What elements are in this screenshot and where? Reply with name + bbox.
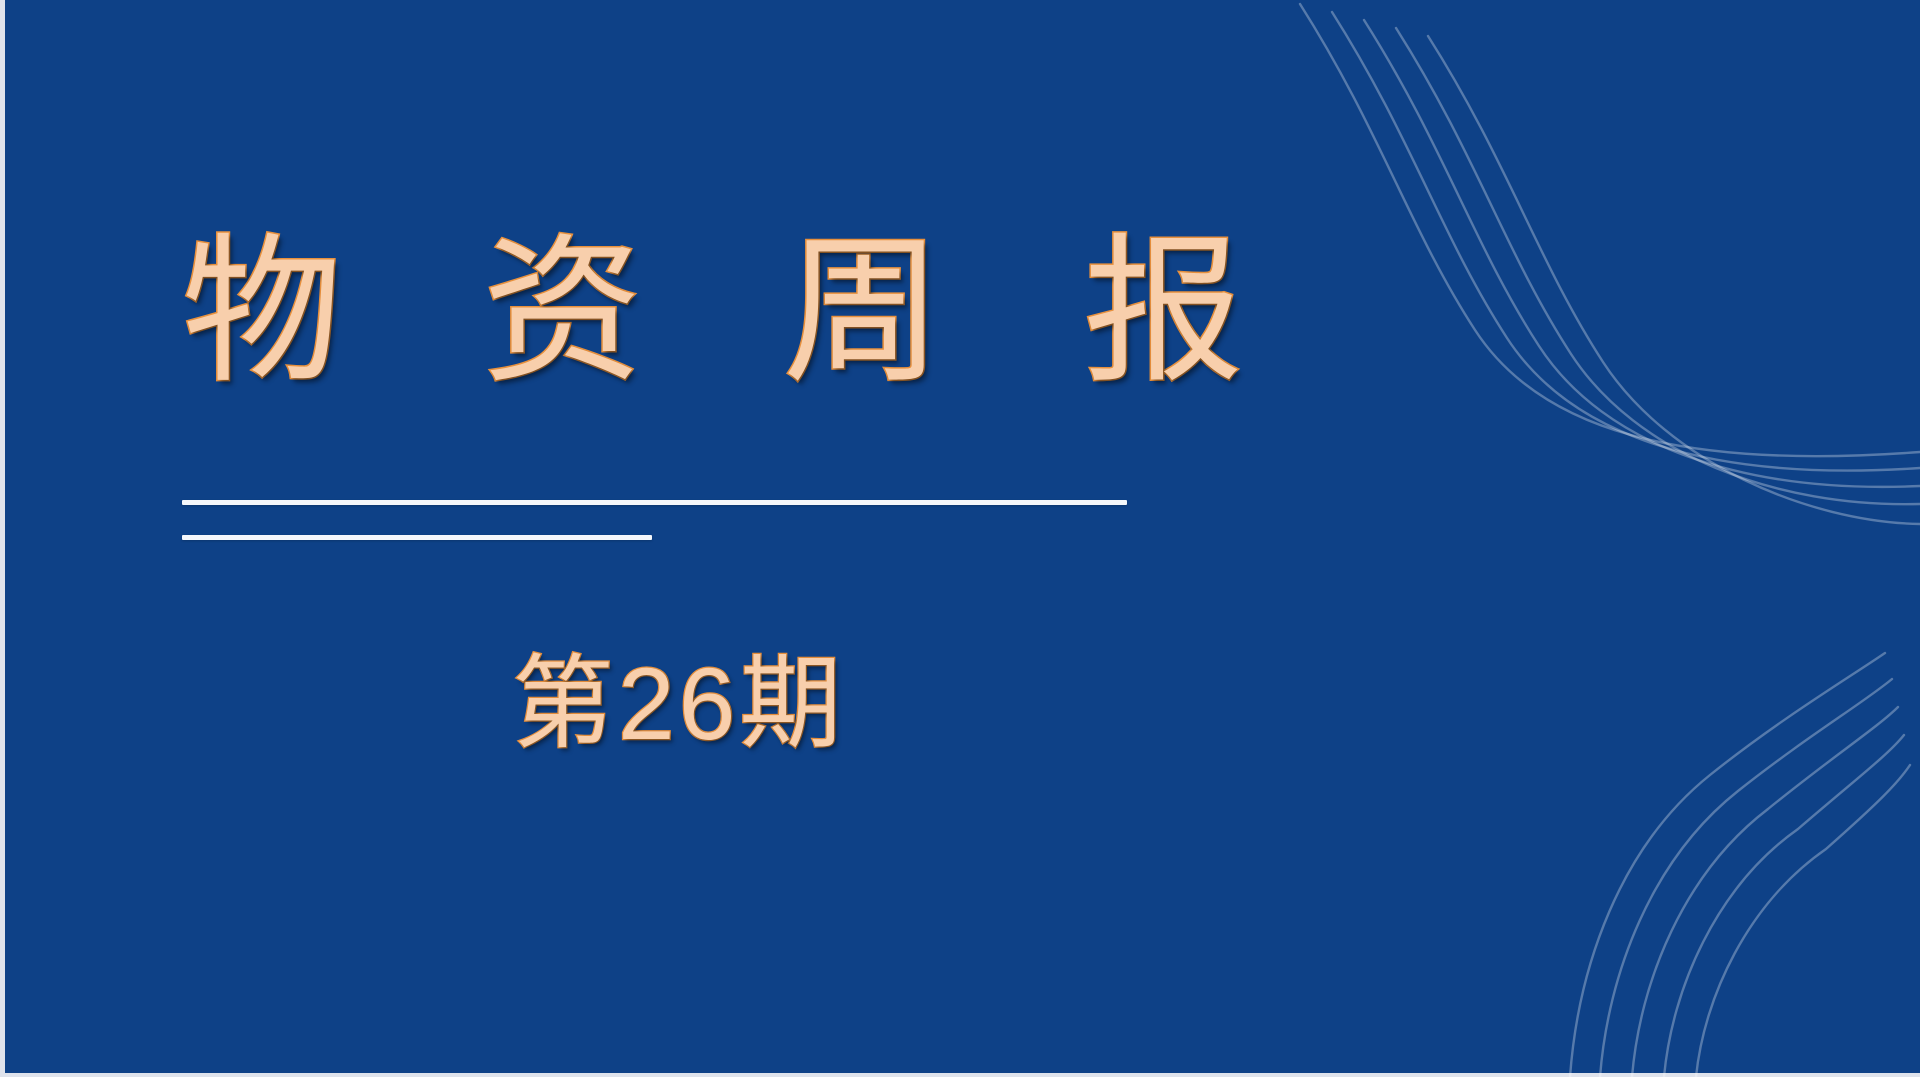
- issue-subtitle: 第26期: [512, 648, 845, 760]
- left-edge-strip: [0, 0, 5, 1077]
- title-slide: 物 资 周 报 第26期: [0, 0, 1920, 1077]
- title-underline-long: [182, 500, 1127, 505]
- title-underline-short: [182, 535, 652, 540]
- title-block: 物 资 周 报: [182, 232, 1382, 392]
- bottom-edge-strip: [0, 1073, 1920, 1077]
- title-underline-group: [182, 500, 1127, 540]
- page-title: 物 资 周 报: [182, 232, 1382, 392]
- arc-lines-bottom-right-icon: [1260, 607, 1920, 1077]
